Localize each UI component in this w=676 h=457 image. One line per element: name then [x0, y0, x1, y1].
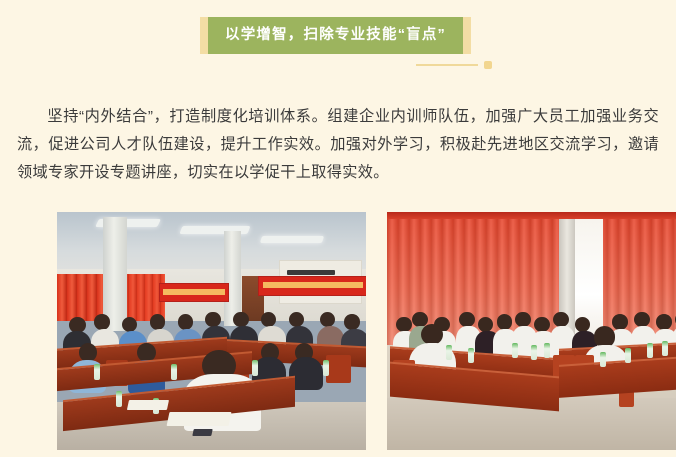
water-bottle: [323, 360, 329, 376]
water-bottle: [647, 343, 653, 358]
page-title: 以学增智，扫除专业技能“盲点”: [225, 17, 446, 54]
divider-line: [416, 64, 478, 66]
attendee-head: [497, 314, 513, 329]
photo-right-scene: [387, 212, 676, 450]
body-paragraph: 坚持“内外结合”，打造制度化培训体系。组建企业内训师队伍，加强广大员工加强业务交…: [17, 103, 659, 187]
attendee-head: [320, 312, 335, 327]
attendee-head: [150, 314, 165, 329]
water-bottle: [446, 345, 452, 360]
header-banner-row: 以学增智，扫除专业技能“盲点”: [0, 17, 676, 54]
attendee-head: [656, 314, 672, 329]
attendee-head: [94, 314, 109, 329]
mobile-phone: [192, 429, 212, 436]
attendee-head: [553, 312, 569, 327]
water-bottle: [468, 348, 474, 363]
header-banner: 以学增智，扫除专业技能“盲点”: [200, 17, 471, 54]
red-hanging-banner: [159, 283, 229, 302]
water-bottle: [116, 391, 122, 407]
water-bottle: [531, 345, 537, 360]
decorative-divider: [0, 60, 676, 70]
water-bottle: [252, 360, 258, 376]
attendee-head: [396, 317, 412, 332]
attendee-head: [205, 312, 220, 327]
water-bottle: [94, 364, 100, 380]
photo-row: [0, 196, 676, 436]
water-bottle: [512, 343, 518, 358]
banner-text-strip: [163, 289, 226, 295]
training-classroom-photo-right: [387, 212, 676, 450]
water-bottle: [625, 348, 631, 363]
attendee-head: [233, 312, 248, 327]
divider-dot-icon: [484, 61, 492, 69]
photo-left-scene: [57, 212, 366, 450]
ceiling-light: [260, 236, 324, 243]
banner-left-edge: [200, 17, 208, 54]
banner-text-strip: [263, 282, 363, 288]
attendee-head: [459, 312, 475, 327]
attendee-head: [261, 312, 276, 327]
attendee-head: [344, 314, 359, 329]
document-paper: [167, 412, 232, 426]
attendee-head: [122, 317, 137, 332]
attendee-head: [612, 314, 628, 329]
red-hanging-banner: [258, 276, 366, 296]
water-bottle: [171, 364, 177, 380]
attendee-head: [289, 312, 304, 327]
attendee-head: [178, 314, 193, 329]
training-classroom-photo-left: [57, 212, 366, 450]
pillar: [103, 217, 126, 331]
banner-body: 以学增智，扫除专业技能“盲点”: [208, 17, 463, 54]
attendee-head: [534, 317, 550, 332]
chair: [326, 355, 351, 384]
water-bottle: [600, 352, 606, 367]
curtain-rod: [387, 212, 676, 219]
document-paper: [127, 400, 169, 410]
banner-right-edge: [463, 17, 471, 54]
water-bottle: [662, 341, 668, 356]
water-bottle: [544, 343, 550, 358]
